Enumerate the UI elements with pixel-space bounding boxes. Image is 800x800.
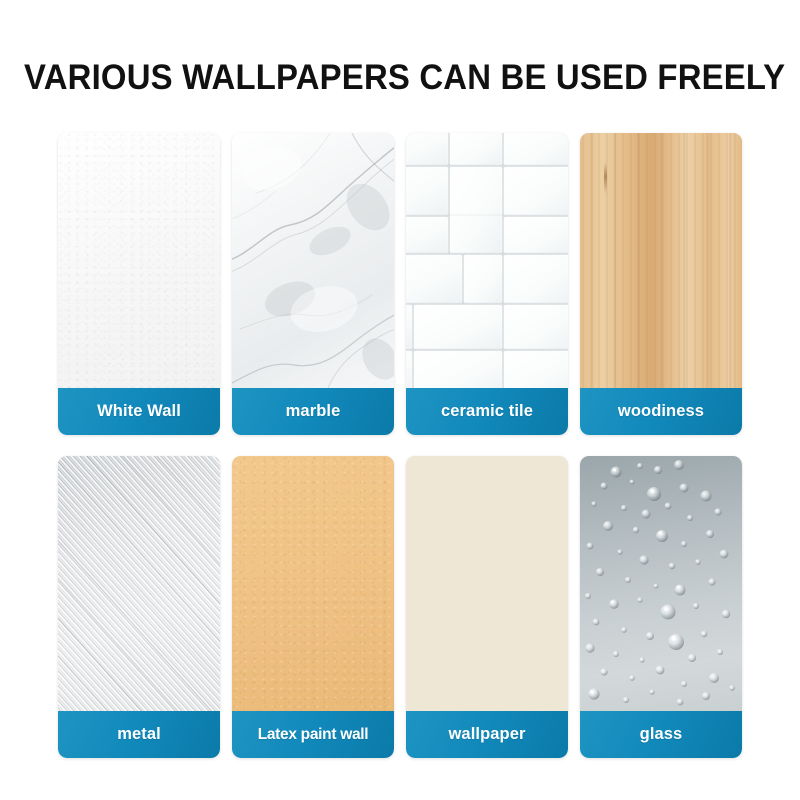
material-card-marble[interactable]: marble (232, 133, 394, 435)
material-card-glass[interactable]: glass (580, 456, 742, 758)
material-label-white-wall: White Wall (97, 402, 181, 421)
metal-swatch (58, 456, 220, 711)
marble-swatch (232, 133, 394, 388)
material-label-woodiness: woodiness (618, 402, 704, 421)
woodiness-swatch (580, 133, 742, 388)
material-card-woodiness[interactable]: woodiness (580, 133, 742, 435)
white-wall-swatch (58, 133, 220, 388)
latex-paint-wall-swatch (232, 456, 394, 711)
material-card-metal[interactable]: metal (58, 456, 220, 758)
surface-compatibility-poster: VARIOUS WALLPAPERS CAN BE USED FREELY Wh… (0, 0, 800, 800)
material-label-ceramic-tile: ceramic tile (441, 402, 533, 421)
material-label-glass: glass (640, 725, 683, 744)
material-label-bar-white-wall: White Wall (58, 388, 220, 435)
material-label-wallpaper: wallpaper (448, 725, 525, 744)
material-label-latex-paint-wall: Latex paint wall (258, 726, 369, 744)
material-label-bar-latex-paint-wall: Latex paint wall (232, 711, 394, 758)
material-label-marble: marble (286, 402, 341, 421)
material-label-bar-ceramic-tile: ceramic tile (406, 388, 568, 435)
material-card-latex-paint-wall[interactable]: Latex paint wall (232, 456, 394, 758)
wood-grain-mark (604, 161, 607, 195)
material-sample-grid: White Wall (58, 133, 742, 758)
material-card-wallpaper[interactable]: wallpaper (406, 456, 568, 758)
page-title: VARIOUS WALLPAPERS CAN BE USED FREELY (24, 56, 738, 100)
ceramic-tile-swatch (406, 133, 568, 388)
material-label-bar-glass: glass (580, 711, 742, 758)
glass-swatch (580, 456, 742, 711)
wallpaper-swatch (406, 456, 568, 711)
material-label-bar-metal: metal (58, 711, 220, 758)
material-label-metal: metal (117, 725, 161, 744)
material-card-ceramic-tile[interactable]: ceramic tile (406, 133, 568, 435)
material-label-bar-woodiness: woodiness (580, 388, 742, 435)
material-label-bar-wallpaper: wallpaper (406, 711, 568, 758)
material-card-white-wall[interactable]: White Wall (58, 133, 220, 435)
material-label-bar-marble: marble (232, 388, 394, 435)
